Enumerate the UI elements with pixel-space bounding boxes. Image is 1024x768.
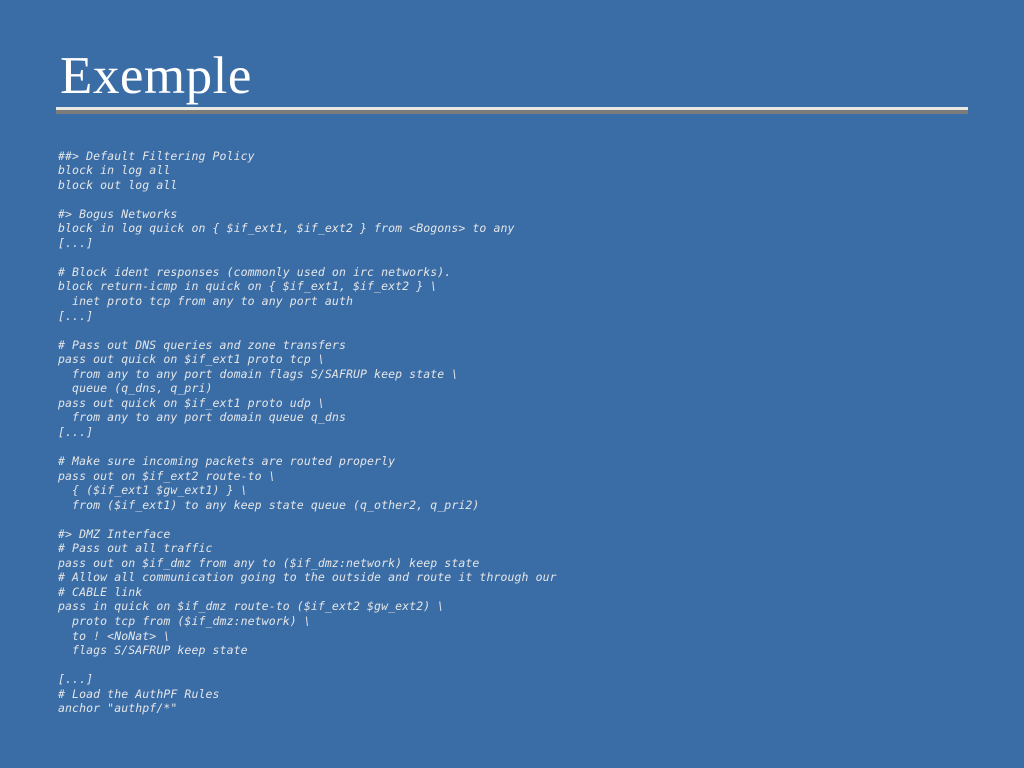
code-line: pass out quick on $if_ext1 proto udp \: [58, 396, 998, 411]
code-line: #> DMZ Interface: [58, 527, 998, 542]
presentation-slide: Exemple ##> Default Filtering Policybloc…: [0, 0, 1024, 768]
code-line: to ! <NoNat> \: [58, 629, 998, 644]
code-line: from ($if_ext1) to any keep state queue …: [58, 498, 998, 513]
code-line: # Allow all communication going to the o…: [58, 570, 998, 585]
title-divider: [56, 107, 968, 114]
code-line: proto tcp from ($if_dmz:network) \: [58, 614, 998, 629]
code-line: queue (q_dns, q_pri): [58, 381, 998, 396]
code-line: #> Bogus Networks: [58, 207, 998, 222]
code-line: [...]: [58, 309, 998, 324]
code-line: flags S/SAFRUP keep state: [58, 643, 998, 658]
code-line-blank: [58, 658, 998, 673]
code-line: # Load the AuthPF Rules: [58, 687, 998, 702]
code-line: from any to any port domain queue q_dns: [58, 410, 998, 425]
code-line: block return-icmp in quick on { $if_ext1…: [58, 279, 998, 294]
code-line: anchor "authpf/*": [58, 701, 998, 716]
code-line-blank: [58, 323, 998, 338]
code-line: inet proto tcp from any to any port auth: [58, 294, 998, 309]
code-line: block in log all: [58, 163, 998, 178]
code-line: block out log all: [58, 178, 998, 193]
code-line: # Make sure incoming packets are routed …: [58, 454, 998, 469]
code-line: # CABLE link: [58, 585, 998, 600]
code-line-blank: [58, 192, 998, 207]
code-line: pass out quick on $if_ext1 proto tcp \: [58, 352, 998, 367]
code-line-blank: [58, 439, 998, 454]
code-block: ##> Default Filtering Policyblock in log…: [58, 149, 998, 716]
code-line: { ($if_ext1 $gw_ext1) } \: [58, 483, 998, 498]
code-line: ##> Default Filtering Policy: [58, 149, 998, 164]
code-line: # Block ident responses (commonly used o…: [58, 265, 998, 280]
code-line: block in log quick on { $if_ext1, $if_ex…: [58, 221, 998, 236]
title-divider-shadow: [56, 110, 968, 114]
code-line: # Pass out all traffic: [58, 541, 998, 556]
code-line-blank: [58, 512, 998, 527]
code-line: pass out on $if_dmz from any to ($if_dmz…: [58, 556, 998, 571]
code-line: from any to any port domain flags S/SAFR…: [58, 367, 998, 382]
code-line: [...]: [58, 236, 998, 251]
code-line-blank: [58, 250, 998, 265]
code-line: pass out on $if_ext2 route-to \: [58, 469, 998, 484]
page-title: Exemple: [60, 47, 252, 105]
code-line: [...]: [58, 425, 998, 440]
code-line: pass in quick on $if_dmz route-to ($if_e…: [58, 599, 998, 614]
code-line: [...]: [58, 672, 998, 687]
code-line: # Pass out DNS queries and zone transfer…: [58, 338, 998, 353]
